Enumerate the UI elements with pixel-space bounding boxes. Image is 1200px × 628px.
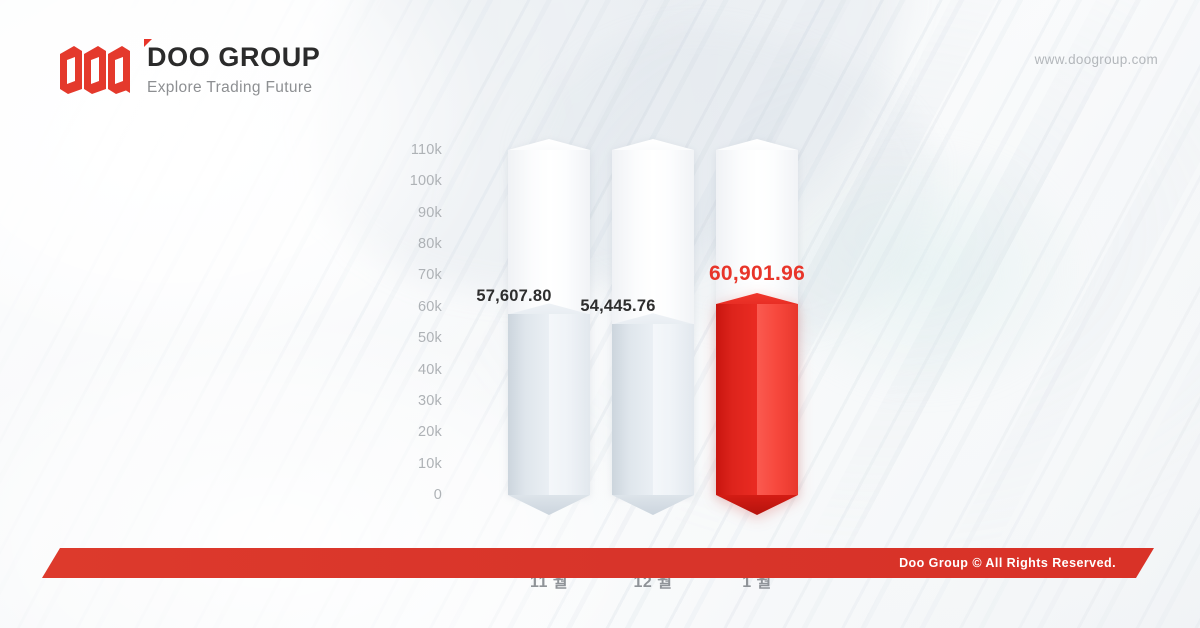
y-axis-tick: 110k xyxy=(411,142,442,158)
plot-area: 57,607.8011 월54,445.7612 월60,901.961 월 xyxy=(508,150,820,540)
y-axis-tick: 50k xyxy=(418,330,442,346)
brand-wordmark-text: DOO GROUP xyxy=(147,42,320,72)
y-axis-tick: 80k xyxy=(418,236,442,252)
brand-flag-icon xyxy=(144,39,152,47)
bar-fill[interactable] xyxy=(612,324,694,495)
y-axis-tick: 90k xyxy=(418,205,442,221)
bar-left-face xyxy=(612,324,653,495)
y-axis-tick: 40k xyxy=(418,362,442,378)
bar-group[interactable]: 54,445.7612 월 xyxy=(612,150,708,540)
bar-group[interactable]: 57,607.8011 월 xyxy=(508,150,604,540)
doo-logo-icon xyxy=(58,44,134,96)
brand-text: DOO GROUP Explore Trading Future xyxy=(147,44,320,96)
bar-value-label: 54,445.76 xyxy=(580,297,655,316)
bar-bottom-face xyxy=(508,495,590,515)
y-axis-tick: 70k xyxy=(418,267,442,283)
bar-group[interactable]: 60,901.961 월 xyxy=(716,150,812,540)
bar-left-face xyxy=(508,314,549,495)
bar-chart: 010k20k30k40k50k60k70k80k90k100k110k 57,… xyxy=(390,150,820,540)
bar-right-face xyxy=(653,324,694,495)
bar-right-face xyxy=(757,304,798,495)
y-axis-tick: 60k xyxy=(418,299,442,315)
bar-value-label: 57,607.80 xyxy=(476,287,551,306)
bar-value-label: 60,901.96 xyxy=(709,262,805,286)
brand-logo[interactable]: DOO GROUP Explore Trading Future xyxy=(58,44,320,96)
poster-canvas: DOO GROUP Explore Trading Future www.doo… xyxy=(0,0,1200,628)
brand-wordmark: DOO GROUP xyxy=(147,44,320,71)
footer-banner: Doo Group © All Rights Reserved. xyxy=(42,548,1154,578)
y-axis-tick: 20k xyxy=(418,424,442,440)
bar-fill[interactable] xyxy=(508,314,590,495)
brand-tagline: Explore Trading Future xyxy=(147,80,320,96)
y-axis: 010k20k30k40k50k60k70k80k90k100k110k xyxy=(390,150,442,495)
bar-bottom-face xyxy=(612,495,694,515)
y-axis-tick: 30k xyxy=(418,393,442,409)
y-axis-tick: 100k xyxy=(410,173,442,189)
bar-bottom-face xyxy=(716,495,798,515)
bar-left-face xyxy=(716,304,757,495)
website-url[interactable]: www.doogroup.com xyxy=(1035,52,1158,67)
footer-copyright: Doo Group © All Rights Reserved. xyxy=(899,556,1116,570)
bar-fill-highlight[interactable] xyxy=(716,304,798,495)
bar-right-face xyxy=(549,314,590,495)
y-axis-tick: 10k xyxy=(418,456,442,472)
y-axis-tick: 0 xyxy=(434,487,442,503)
